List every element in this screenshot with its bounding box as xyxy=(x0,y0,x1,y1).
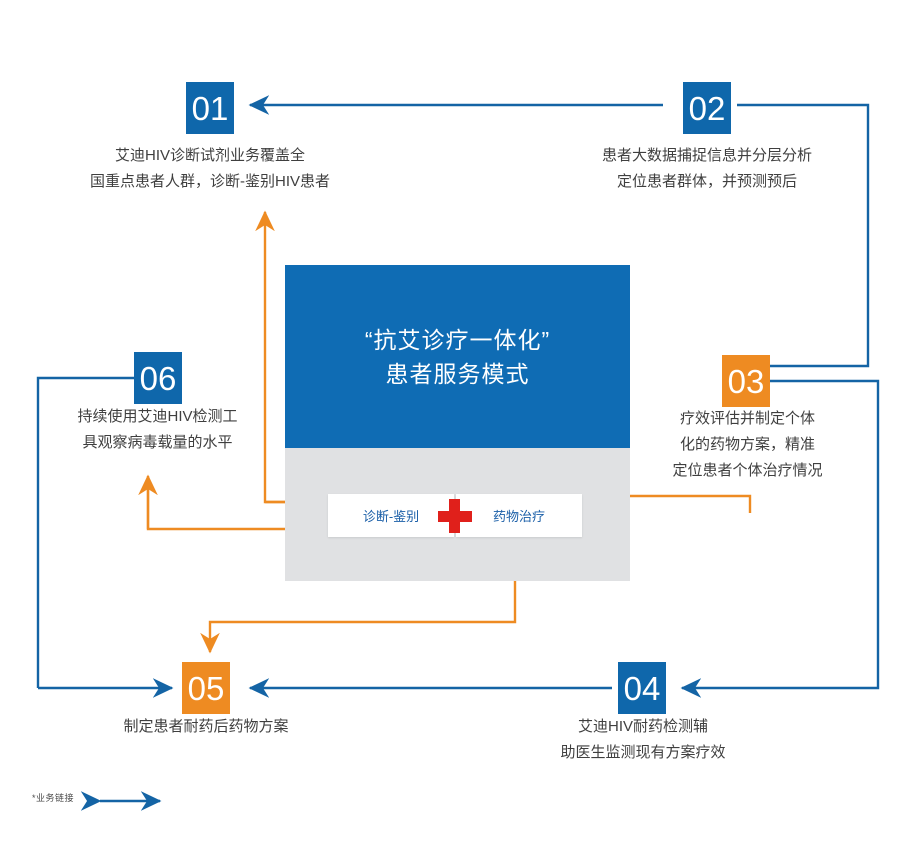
step-number-06-label: 06 xyxy=(140,362,177,395)
center-title-line-1: “抗艾诊疗一体化” xyxy=(365,323,550,357)
pill-drug-treatment[interactable]: 药物治疗 xyxy=(456,494,582,537)
center-panel: “抗艾诊疗一体化” 患者服务模式 诊断-鉴别 药物治疗 xyxy=(285,265,630,581)
center-panel-title-block: “抗艾诊疗一体化” 患者服务模式 xyxy=(285,265,630,448)
step-caption-04: 艾迪HIV耐药检测辅 助医生监测现有方案疗效 xyxy=(513,714,773,766)
step-number-01-label: 01 xyxy=(192,92,229,125)
pill-diagnosis[interactable]: 诊断-鉴别 xyxy=(328,494,454,537)
step-caption-01: 艾迪HIV诊断试剂业务覆盖全 国重点患者人群，诊断-鉴别HIV患者 xyxy=(45,143,375,195)
pill-drug-treatment-label: 药物治疗 xyxy=(493,506,545,525)
step-caption-02: 患者大数据捕捉信息并分层分析 定位患者群体，并预测预后 xyxy=(542,143,872,195)
step-number-04-label: 04 xyxy=(624,672,661,705)
step-caption-05: 制定患者耐药后药物方案 xyxy=(76,714,336,740)
step-number-02[interactable]: 02 xyxy=(683,82,731,134)
step-number-06[interactable]: 06 xyxy=(134,352,182,404)
step-caption-03: 疗效评估并制定个体 化的药物方案，精准 定位患者个体治疗情况 xyxy=(650,406,845,484)
pill-diagnosis-label: 诊断-鉴别 xyxy=(363,506,419,525)
step-number-03-label: 03 xyxy=(728,365,765,398)
step-number-02-label: 02 xyxy=(689,92,726,125)
center-title-line-2: 患者服务模式 xyxy=(386,357,530,391)
diagram-canvas: “抗艾诊疗一体化” 患者服务模式 诊断-鉴别 药物治疗 01 艾迪HIV诊断试剂… xyxy=(0,0,920,845)
center-service-pills: 诊断-鉴别 药物治疗 xyxy=(328,494,582,537)
legend-label: *业务链接 xyxy=(32,791,74,804)
step-number-03[interactable]: 03 xyxy=(722,355,770,407)
step-number-01[interactable]: 01 xyxy=(186,82,234,134)
step-number-05-label: 05 xyxy=(188,672,225,705)
step-number-04[interactable]: 04 xyxy=(618,662,666,714)
step-number-05[interactable]: 05 xyxy=(182,662,230,714)
step-caption-06: 持续使用艾迪HIV检测工 具观察病毒载量的水平 xyxy=(40,404,275,456)
